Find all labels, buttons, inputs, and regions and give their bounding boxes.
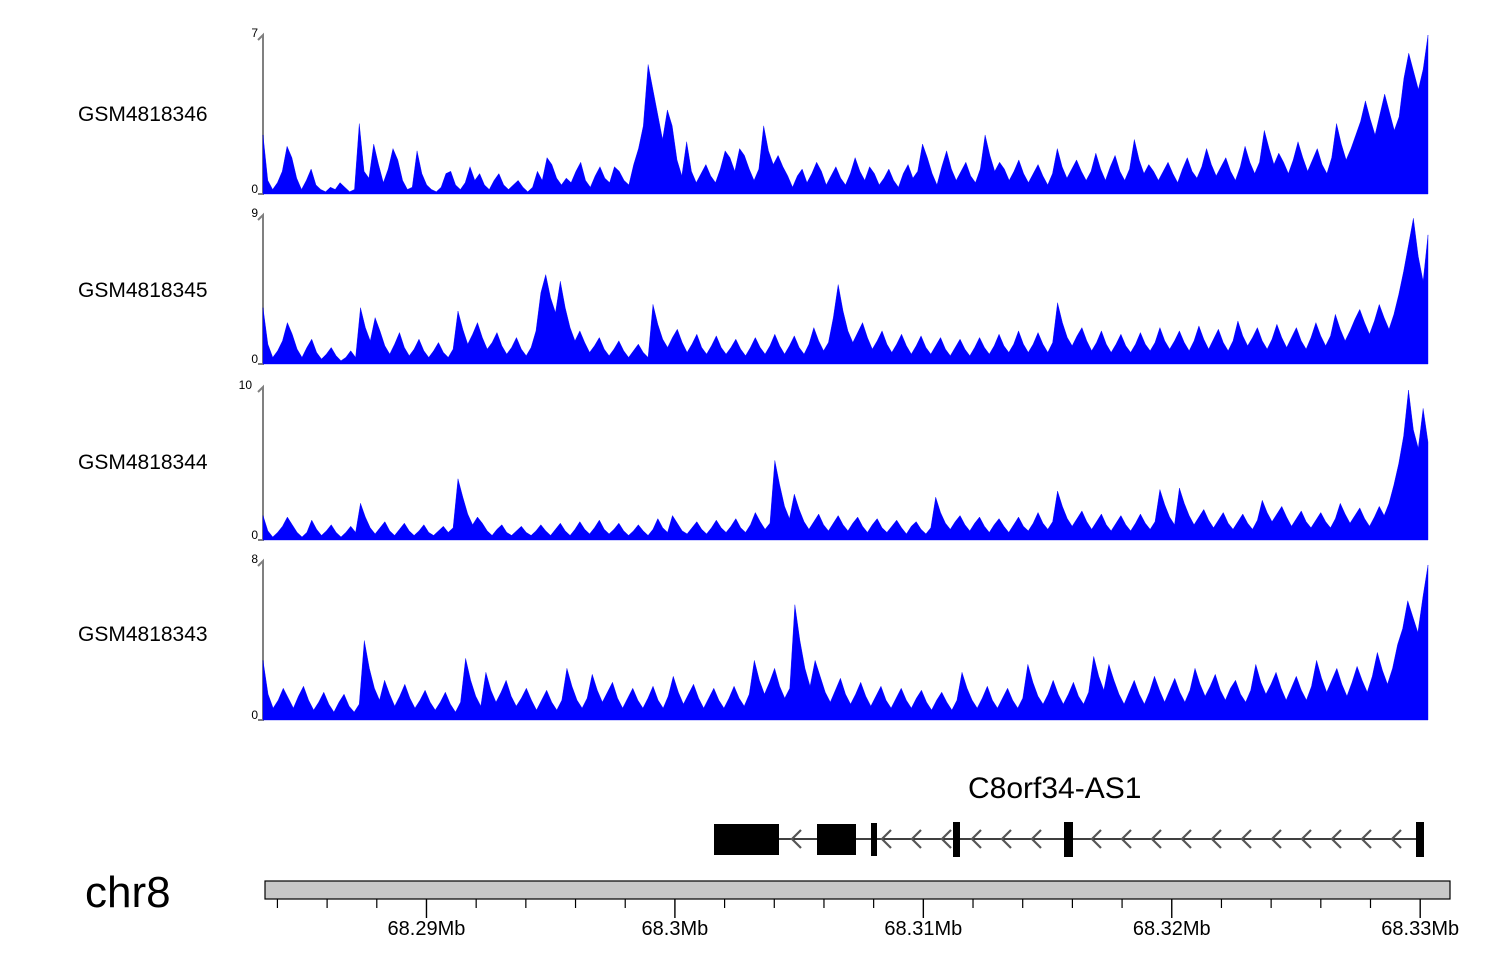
axis-tick-label: 68.32Mb	[1133, 918, 1211, 941]
track-1-signal-plot[interactable]	[240, 30, 1430, 202]
gene-model-track[interactable]	[700, 818, 1440, 860]
track-label-1: GSM4818346	[78, 103, 208, 127]
track-4-signal-plot[interactable]	[240, 556, 1430, 728]
gene-exon	[817, 824, 856, 855]
ideogram-bar	[265, 881, 1450, 899]
track-3-signal-area	[263, 390, 1428, 540]
gene-exon	[871, 823, 877, 856]
track-2-signal-area	[263, 218, 1428, 364]
track-label-3: GSM4818344	[78, 451, 208, 475]
gene-exon	[1064, 822, 1073, 857]
axis-tick-label: 68.31Mb	[884, 918, 962, 941]
axis-tick-label: 68.29Mb	[388, 918, 466, 941]
gene-name-label: C8orf34-AS1	[968, 772, 1141, 806]
track-label-2: GSM4818345	[78, 279, 208, 303]
axis-tick-label: 68.33Mb	[1381, 918, 1459, 941]
axis-tick-label: 68.3Mb	[642, 918, 709, 941]
track-4-signal-area	[263, 565, 1428, 720]
gene-exon	[1416, 822, 1424, 857]
track-2-signal-plot[interactable]	[240, 210, 1430, 372]
track-3-axis-line	[258, 387, 263, 540]
track-label-4: GSM4818343	[78, 623, 208, 647]
genome-axis[interactable]	[240, 876, 1440, 921]
gene-exon	[953, 822, 960, 857]
track-4-axis-line	[258, 561, 263, 720]
track-1-signal-area	[263, 35, 1428, 194]
axis-ticks	[277, 899, 1420, 918]
chromosome-label: chr8	[85, 868, 171, 918]
track-3-signal-plot[interactable]	[240, 382, 1430, 548]
track-1-axis-line	[258, 35, 263, 194]
track-2-axis-line	[258, 215, 263, 364]
gene-exon	[714, 824, 779, 855]
genome-browser-view: GSM4818346 7 0 GSM4818345 9 0 GSM4818344…	[0, 0, 1500, 980]
